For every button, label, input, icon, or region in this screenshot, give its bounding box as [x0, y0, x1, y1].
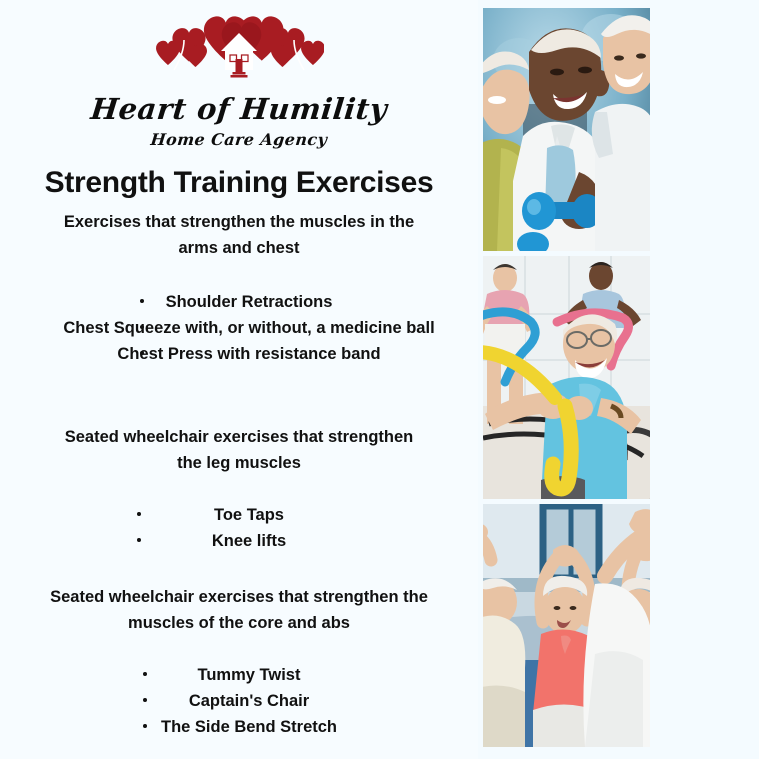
bullet-dot-icon	[143, 698, 147, 702]
list-item-label: Chest Press with resistance band	[62, 342, 436, 368]
logo-tagline: Home Care Agency	[0, 130, 479, 149]
list-item: Chest Squeeze with, or without, a medici…	[0, 316, 478, 342]
bullet-dot-icon	[143, 672, 147, 676]
poster-canvas: Heart of Humility Home Care Agency Stren…	[0, 0, 759, 759]
list-item: Chest Press with resistance band	[0, 342, 478, 368]
core-heading: Seated wheelchair exercises that strengt…	[40, 585, 438, 636]
bullet-dot-icon	[143, 724, 147, 728]
list-item: Knee lifts	[0, 529, 478, 555]
list-item: Shoulder Retractions	[0, 290, 478, 316]
legs-heading: Seated wheelchair exercises that strengt…	[52, 425, 426, 476]
wheelchair-resistance-band-photo	[483, 256, 650, 499]
list-item-label: Captain's Chair	[62, 689, 436, 715]
content-column: Heart of Humility Home Care Agency Stren…	[0, 0, 478, 759]
core-exercise-list: Tummy Twist Captain's Chair The Side Ben…	[0, 663, 478, 741]
list-item-label: Tummy Twist	[62, 663, 436, 689]
seniors-with-dumbbells-photo	[483, 8, 650, 251]
bullet-dot-icon	[140, 351, 144, 355]
arm-chest-exercise-list: Shoulder Retractions Chest Squeeze with,…	[0, 290, 478, 368]
bullet-dot-icon	[137, 538, 141, 542]
list-item-label: Shoulder Retractions	[62, 290, 436, 316]
list-item: Toe Taps	[0, 503, 478, 529]
logo-wordmark: Heart of Humility	[0, 94, 480, 124]
hearts-house-logo-icon	[154, 14, 324, 92]
seated-overhead-stretch-photo	[483, 504, 650, 747]
page-title: Strength Training Exercises	[0, 166, 478, 200]
logo-block: Heart of Humility Home Care Agency	[0, 14, 478, 149]
bullet-dot-icon	[140, 325, 144, 329]
bullet-dot-icon	[137, 512, 141, 516]
bullet-dot-icon	[140, 299, 144, 303]
list-item-label: Knee lifts	[62, 529, 436, 555]
list-item-label: The Side Bend Stretch	[62, 715, 436, 741]
arms-chest-heading: Exercises that strengthen the muscles in…	[52, 210, 426, 261]
list-item: The Side Bend Stretch	[0, 715, 478, 741]
list-item: Tummy Twist	[0, 663, 478, 689]
list-item: Captain's Chair	[0, 689, 478, 715]
photo-column	[483, 8, 650, 752]
list-item-label: Toe Taps	[62, 503, 436, 529]
list-item-label: Chest Squeeze with, or without, a medici…	[62, 316, 436, 342]
leg-exercise-list: Toe Taps Knee lifts	[0, 503, 478, 555]
